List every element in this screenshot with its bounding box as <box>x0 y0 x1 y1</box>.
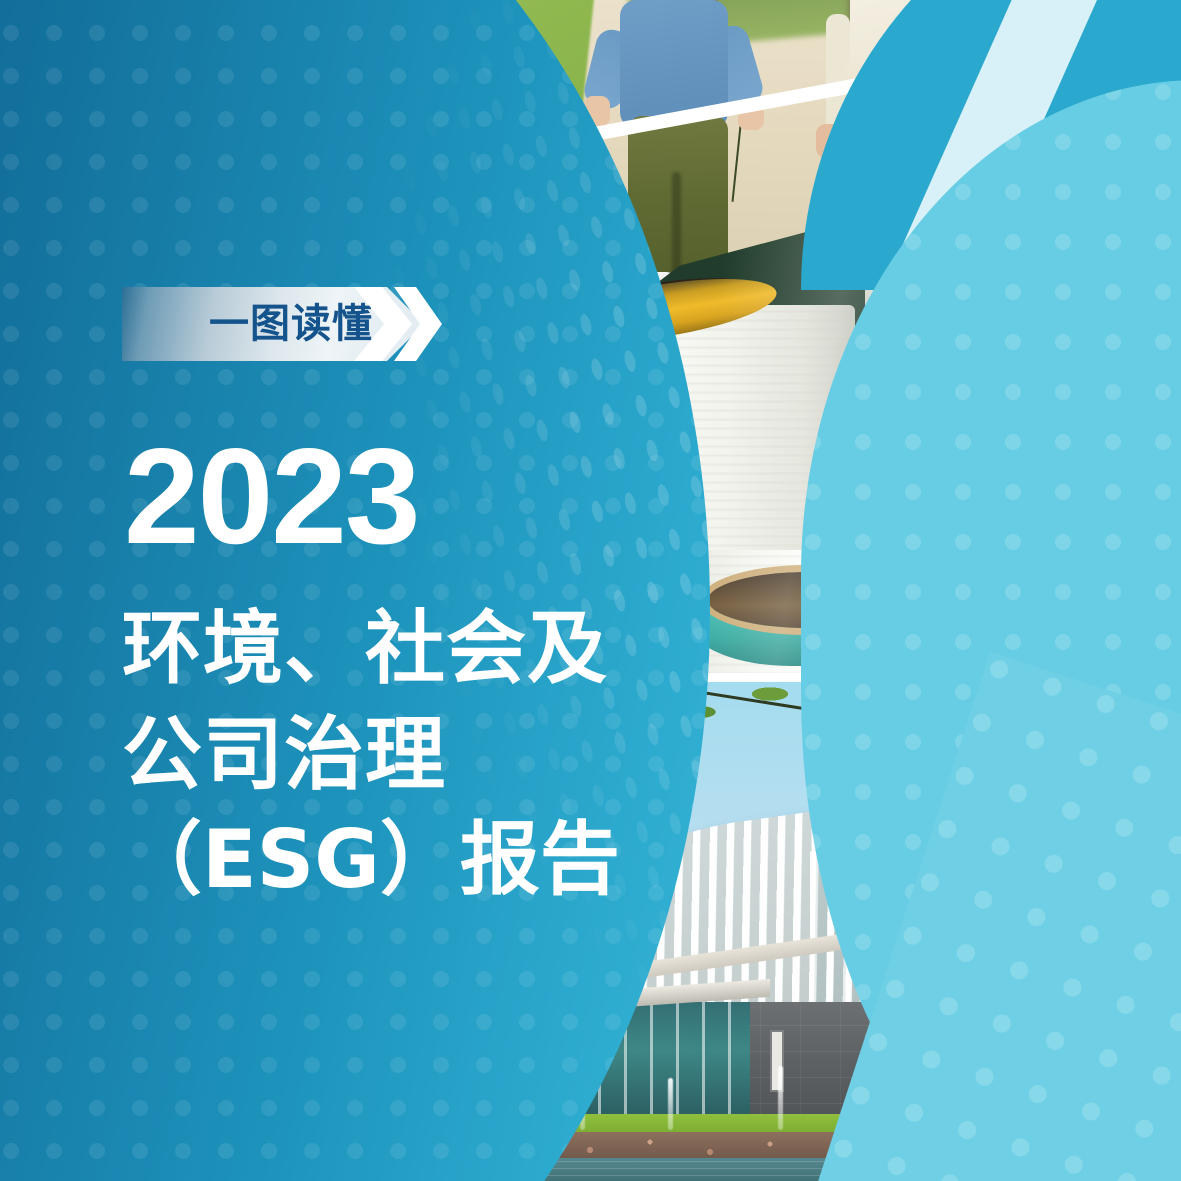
report-year: 2023 <box>124 428 419 564</box>
report-title: 环境、社会及 公司治理 （ESG）报告 <box>122 596 620 913</box>
badge-ribbon: 一图读懂 <box>122 287 387 361</box>
poster-content: 一图读懂 2023 环境、社会及 公司治理 （ESG）报告 <box>0 0 1181 1181</box>
badge-label: 一图读懂 <box>209 304 373 344</box>
report-title-line-3: （ESG）报告 <box>122 807 620 913</box>
double-chevron-right-icon <box>352 285 442 363</box>
infographic-badge: 一图读懂 <box>122 287 387 361</box>
esg-report-cover-poster: 一图读懂 2023 环境、社会及 公司治理 （ESG）报告 <box>0 0 1181 1181</box>
report-title-line-1: 环境、社会及 <box>122 596 620 702</box>
report-title-line-2: 公司治理 <box>122 702 620 808</box>
